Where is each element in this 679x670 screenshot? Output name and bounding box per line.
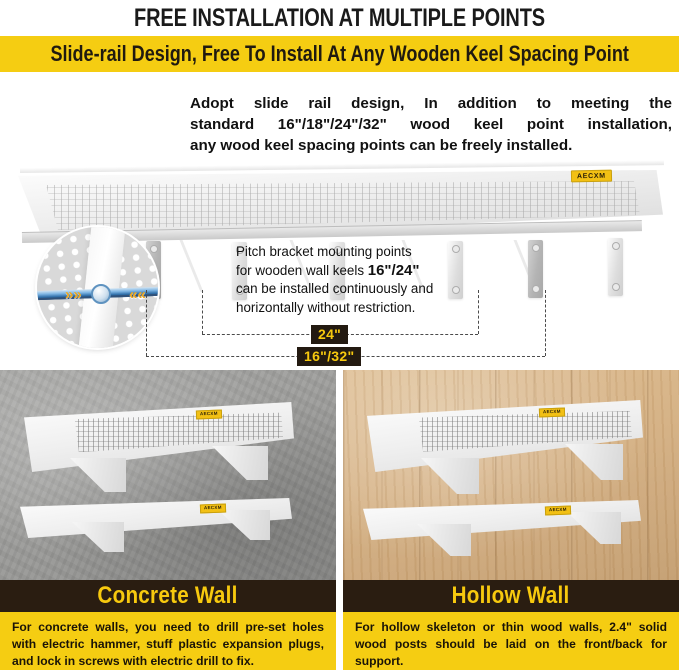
hollow-body-line-3: support. [355,653,667,670]
concrete-body-line-2: with electric hammer, stuff plastic expa… [12,636,324,653]
shelf-lower-brand-badge: AECXM [545,506,571,515]
shelf-upper-brand-badge: AECXM [539,408,565,417]
dim-line-outer-left [146,290,147,356]
subheadline-text: Slide-rail Design, Free To Install At An… [50,41,628,67]
description-line-1: Adopt slide rail design, In addition to … [190,93,672,114]
dim-badge-24: 24" [311,325,348,344]
caption-concrete-wall: Concrete Wall [98,582,238,610]
concrete-body-line-3: and lock in screws with electric drill t… [12,653,324,670]
caption-hollow-wall: Hollow Wall [452,582,570,610]
hollow-body-line-2: wood posts should be laid on the front/b… [355,636,667,653]
caption-bar-concrete: Concrete Wall [0,580,336,612]
page-headline: FREE INSTALLATION AT MULTIPLE POINTS [68,0,611,36]
panel-concrete-wall: AECXM AECXM Concrete Wall For concrete w… [0,370,336,670]
concrete-body-line-1: For concrete walls, you need to drill pr… [12,619,324,636]
description-line-2: standard 16"/18"/24"/32" wood keel point… [190,114,672,135]
product-description: Adopt slide rail design, In addition to … [190,93,672,156]
concrete-wall-instructions: For concrete walls, you need to drill pr… [0,612,336,670]
subheadline-banner: Slide-rail Design, Free To Install At An… [0,36,679,72]
dim-line-inner-left [202,290,203,334]
caption-bar-hollow: Hollow Wall [343,580,679,612]
dimension-callouts: 24" 16"/32" [0,150,679,370]
dim-line-inner-right [478,290,479,334]
shelf-upper-brace-left [421,458,479,494]
concrete-wall-photo: AECXM AECXM [0,370,336,580]
hollow-wall-photo: AECXM AECXM [343,370,679,580]
shelf-upper-brand-badge: AECXM [196,410,222,419]
shelf-lower-brace-left [417,524,471,556]
hollow-wall-instructions: For hollow skeleton or thin wood walls, … [343,612,679,670]
hollow-body-line-1: For hollow skeleton or thin wood walls, … [355,619,667,636]
dim-badge-16-32: 16"/32" [297,347,361,366]
dim-line-outer-right [545,290,546,356]
shelf-lower-brand-badge: AECXM [200,504,226,513]
panel-hollow-wall: AECXM AECXM Hollow Wall For hollow skele… [343,370,679,670]
wall-type-panels: AECXM AECXM Concrete Wall For concrete w… [0,370,679,670]
shelf-upper-brace-left [70,458,126,492]
